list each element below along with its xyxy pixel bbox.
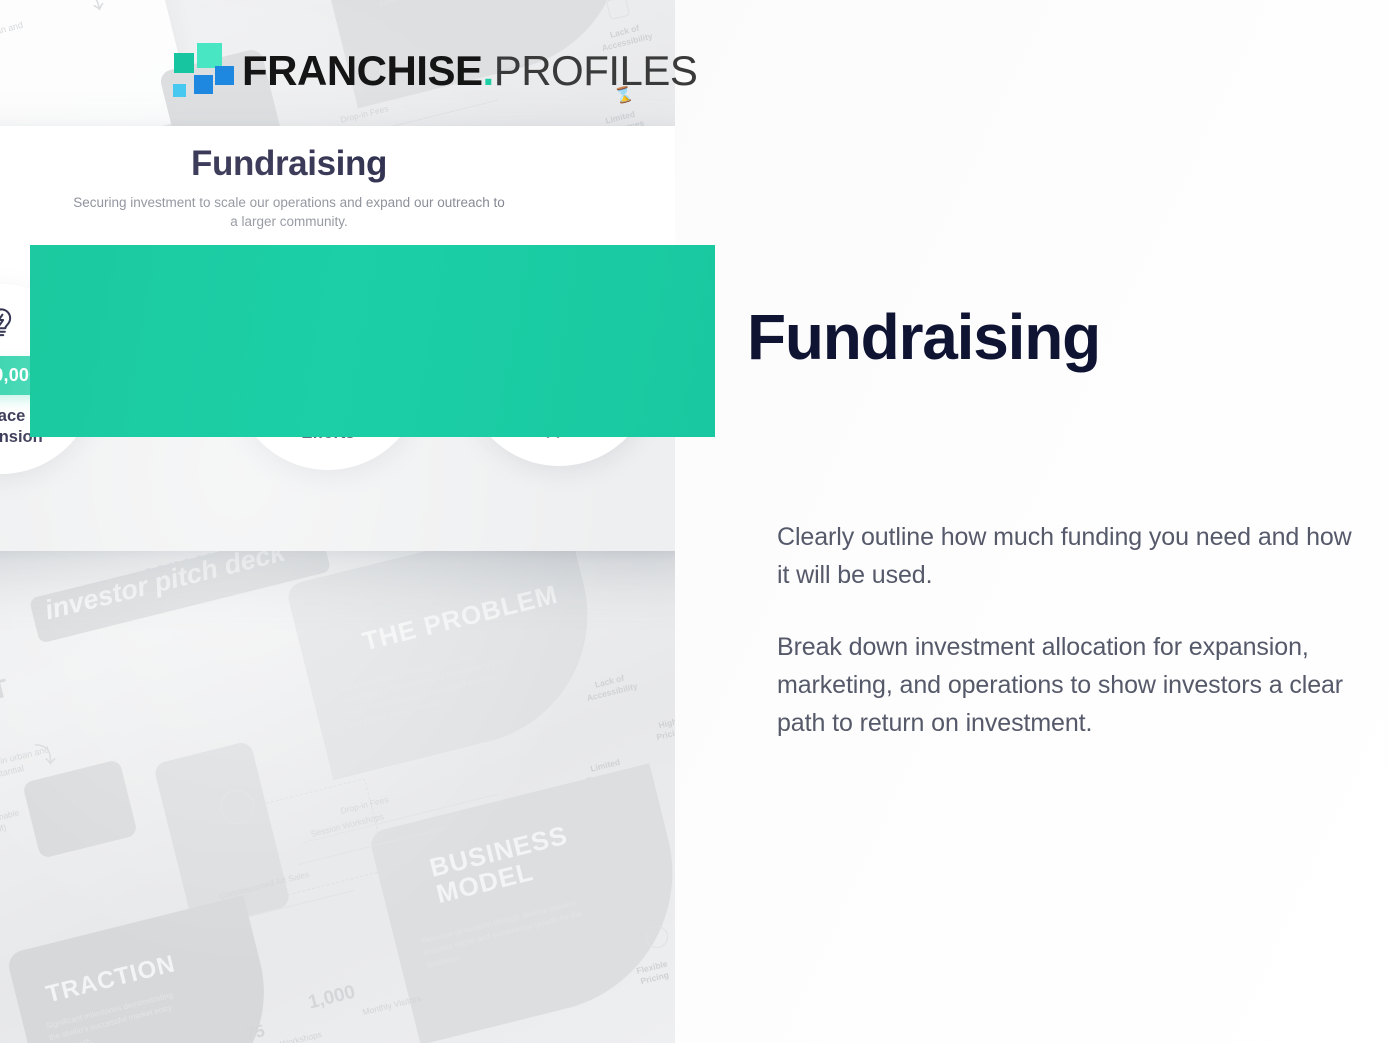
logo-square-mint xyxy=(197,43,222,68)
logo-squares-icon xyxy=(170,42,226,100)
description-paragraph-1: Clearly outline how much funding you nee… xyxy=(777,518,1352,594)
lightbulb-bolt-icon xyxy=(0,306,18,340)
description-block: Clearly outline how much funding you nee… xyxy=(777,518,1352,742)
brand-logo[interactable]: FRANCHISE.PROFILES xyxy=(170,42,697,100)
ghost-traction-stat-2-value: 75 xyxy=(244,1020,268,1043)
ghost-traction-stat-1-value: 1,000 xyxy=(306,980,358,1016)
ghost-traction-stat-2-label: Workshops xyxy=(279,1029,323,1043)
ghost-problem-2-title: THE PROBLEM xyxy=(360,581,561,655)
ghost-problem-2-item-1: Lack of Accessibility xyxy=(583,670,639,705)
card-title: Fundraising xyxy=(0,144,675,184)
title-accent-band xyxy=(30,245,715,437)
logo-square-teal xyxy=(174,53,194,73)
logo-word-profiles: PROFILES xyxy=(494,47,698,94)
ghost-slide-problem-2: THE PROBLEM Many individuals and communi… xyxy=(285,516,615,780)
deck-mockup-panel: MARKET spaces in urban and is substantia… xyxy=(0,0,675,1043)
logo-square-cyan xyxy=(173,84,186,97)
ghost-arrow-icon: ⤵ xyxy=(77,0,106,19)
logo-square-blue-1 xyxy=(194,75,213,94)
logo-wordmark: FRANCHISE.PROFILES xyxy=(242,50,697,92)
ghost-doc-icon xyxy=(606,0,630,20)
ghost-slide-traction: TRACTION Significant milestones demonstr… xyxy=(6,895,290,1043)
ghost-problem-body: Many individuals and communities lack ac… xyxy=(369,0,541,10)
page-title: Fundraising xyxy=(747,305,1100,369)
logo-dot: . xyxy=(483,47,494,94)
ghost-market-body: spaces in urban and is substantial xyxy=(0,5,84,62)
ghost-market-2-title: T xyxy=(0,671,12,709)
ghost-som-label: Obtainable (SOM) xyxy=(0,807,23,839)
ghost-arrow-3-icon: ⤵ xyxy=(34,738,56,770)
logo-square-blue-2 xyxy=(215,66,234,85)
ghost-chip-4 xyxy=(22,759,138,859)
description-paragraph-2: Break down investment allocation for exp… xyxy=(777,628,1352,742)
card-subtitle: Securing investment to scale our operati… xyxy=(69,194,509,231)
slide-preview-page: MARKET spaces in urban and is substantia… xyxy=(0,0,1390,1043)
ghost-problem-2-body: Many individuals and communities lack ac… xyxy=(338,643,515,732)
logo-word-franchise: FRANCHISE xyxy=(242,47,483,94)
ghost-bm-title: BUSINESS MODEL xyxy=(427,817,595,907)
ghost-problem-2-item-3: High Pricing xyxy=(653,715,675,744)
